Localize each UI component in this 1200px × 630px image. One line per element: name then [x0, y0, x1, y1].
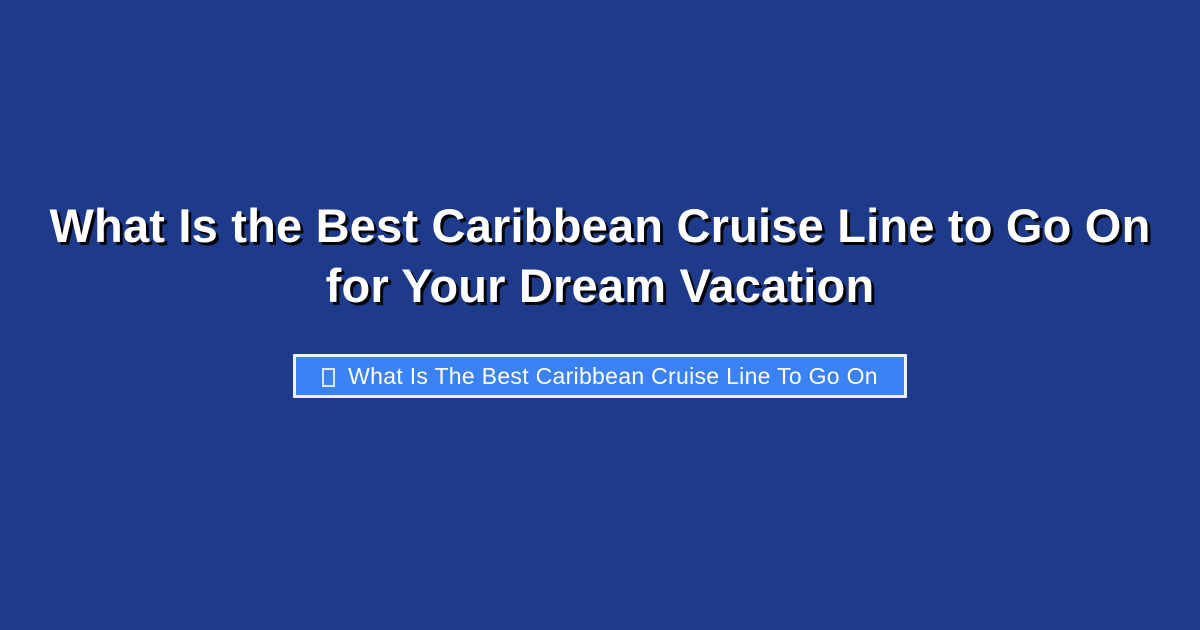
cta-button-label: What Is The Best Caribbean Cruise Line T… — [348, 365, 878, 388]
page-title: What Is the Best Caribbean Cruise Line t… — [0, 196, 1200, 316]
share-card: What Is the Best Caribbean Cruise Line t… — [0, 0, 1200, 630]
cta-container: What Is The Best Caribbean Cruise Line T… — [0, 354, 1200, 398]
cta-button[interactable]: What Is The Best Caribbean Cruise Line T… — [293, 354, 907, 398]
missing-glyph-tofu-icon — [322, 368, 335, 387]
